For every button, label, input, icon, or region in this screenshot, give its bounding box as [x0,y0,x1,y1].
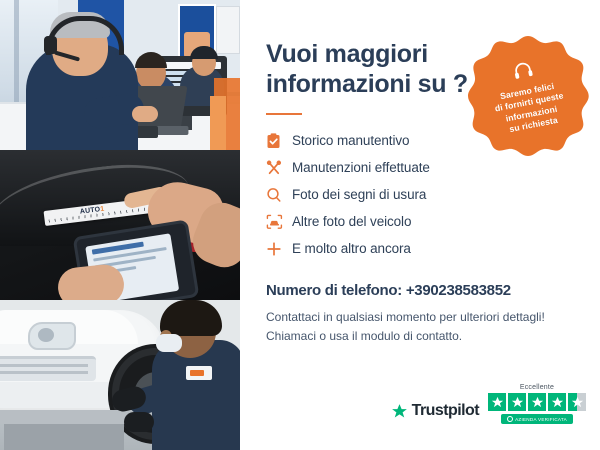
content-panel: Vuoi maggiori informazioni su ? Storico … [240,0,600,450]
star-box [528,393,546,411]
rating-label: Eccellente [520,384,554,391]
magnifier-icon [266,187,292,203]
mechanic-wheel-photo [0,300,240,450]
trustpilot-wordmark: Trustpilot [412,402,479,420]
trustpilot-logo: Trustpilot [391,402,479,424]
hand-holding-tablet [56,263,126,300]
headset-icon [511,60,535,86]
contact-line-2: Chiamaci o usa il modulo di contatto. [266,327,574,346]
verified-label: AZIENDA VERIFICATA [515,417,567,422]
trustpilot-star-icon [391,403,408,420]
phone-line: Numero di telefono: +390238583852 [266,282,574,299]
list-item-label: Altre foto del veicolo [292,214,411,229]
list-item: E molto altro ancora [266,235,574,262]
list-item: Altre foto del veicolo [266,208,574,235]
plus-icon [266,241,292,257]
call-center-photo [0,0,240,150]
phone-number[interactable]: +390238583852 [406,282,511,299]
advertisement-card: AUTO1 [0,0,600,450]
photo-strip: AUTO1 [0,0,240,450]
badge-content: Saremo felici di fornirti queste informa… [453,21,600,171]
trustpilot-widget[interactable]: Trustpilot Eccellente AZIENDA VERIFICATA [391,384,586,424]
contact-line-1: Contattaci in qualsiasi momento per ulte… [266,308,574,327]
verified-badge: AZIENDA VERIFICATA [501,414,573,424]
agent-one-hand [132,106,158,122]
mechanic-glove-right [124,412,154,432]
page-title: Vuoi maggiori informazioni su ? [266,40,481,99]
clipboard-check-icon [266,133,292,149]
car-frame-icon [266,214,292,230]
car-grille [0,356,96,381]
badge-text: Saremo felici di fornirti queste informa… [492,79,569,137]
uniform-logo [186,366,212,380]
callout-badge: Saremo felici di fornirti queste informa… [464,32,592,160]
list-item: Foto dei segni di usura [266,181,574,208]
orange-shelf-edge [210,96,226,150]
lift-base [4,424,124,450]
face-mask [156,334,182,352]
wall-notice [216,6,240,54]
star-box [488,393,506,411]
trustpilot-rating: Eccellente AZIENDA VERIFICATA [488,384,586,424]
title-divider [266,113,302,115]
list-item-label: Storico manutentivo [292,133,409,148]
star-box-half [568,393,586,411]
verified-check-icon [507,416,513,422]
phone-label: Numero di telefono: [266,282,406,299]
list-item-label: Foto dei segni di usura [292,187,426,202]
headlight [28,322,76,350]
crossed-tools-icon [266,160,292,176]
list-item-label: Manutenzioni effettuate [292,160,430,175]
list-item-label: E molto altro ancora [292,241,411,256]
contact-instructions: Contattaci in qualsiasi momento per ulte… [266,308,574,345]
star-box [508,393,526,411]
star-box [548,393,566,411]
star-rating [488,393,586,411]
damage-measure-photo: AUTO1 [0,150,240,300]
